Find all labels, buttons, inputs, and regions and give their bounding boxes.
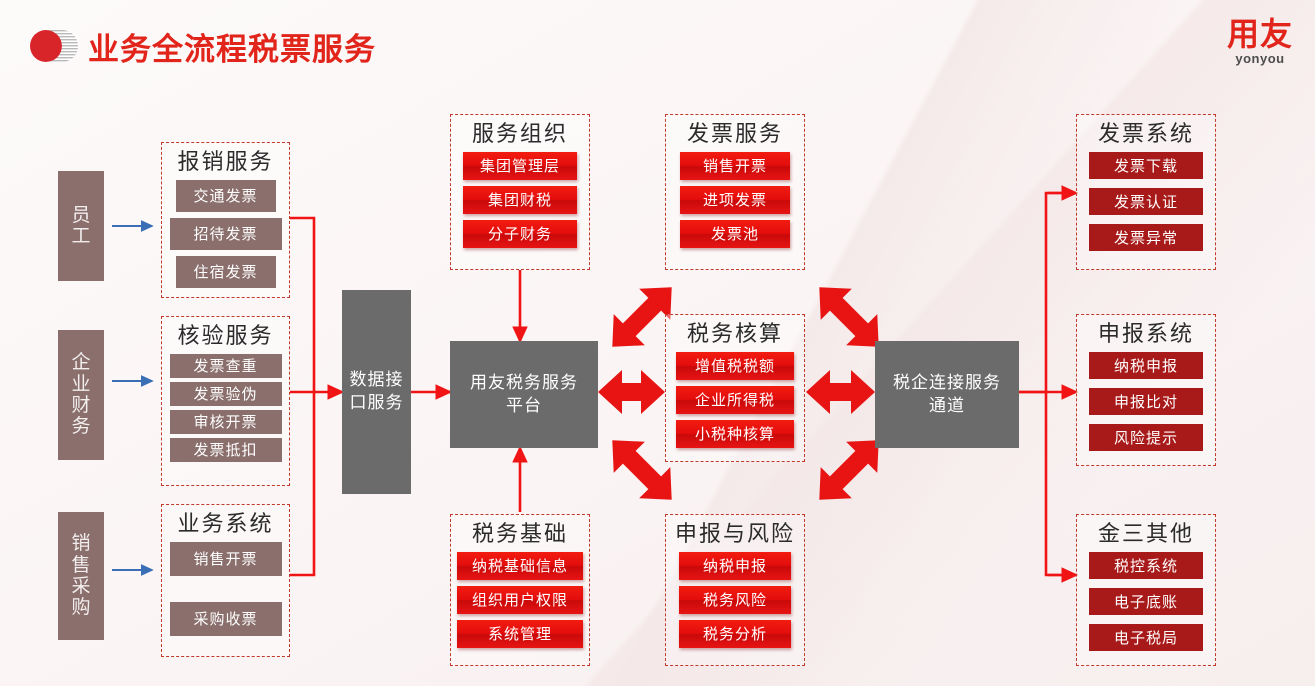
chip-invoice-download[interactable]: 发票下载 xyxy=(1089,152,1203,179)
tax-enterprise-connection-channel-block[interactable]: 税企连接服务通道 xyxy=(875,341,1019,448)
group-reimbursement-service: 报销服务 交通发票 招待发票 住宿发票 xyxy=(161,142,290,298)
actor-employee-label: 员工 xyxy=(72,205,91,248)
chip-vat-amount[interactable]: 增值税税额 xyxy=(676,352,794,380)
chip-invoice-duplicate-check[interactable]: 发票查重 xyxy=(170,354,282,378)
chip-purchase-receipt[interactable]: 采购收票 xyxy=(170,602,282,636)
chip-group-management[interactable]: 集团管理层 xyxy=(463,152,577,180)
page-title: 业务全流程税票服务 xyxy=(88,24,376,69)
chip-minor-tax-accounting[interactable]: 小税种核算 xyxy=(676,420,794,448)
group-invoice-service: 发票服务 销售开票 进项发票 发票池 xyxy=(665,114,805,270)
chip-system-management[interactable]: 系统管理 xyxy=(457,620,583,648)
chip-tax-risk[interactable]: 税务风险 xyxy=(679,586,791,614)
group-title: 税务核算 xyxy=(666,320,804,348)
group-title: 报销服务 xyxy=(162,148,289,176)
chip-invoice-authenticity[interactable]: 发票验伪 xyxy=(170,382,282,406)
chip-tax-declaration[interactable]: 纳税申报 xyxy=(1089,352,1203,379)
tax-service-platform-label: 用友税务服务平台 xyxy=(465,372,584,418)
chip-sales-invoicing[interactable]: 销售开票 xyxy=(680,152,790,180)
chip-tax-control-system[interactable]: 税控系统 xyxy=(1089,552,1203,579)
chip-sales-invoicing[interactable]: 销售开票 xyxy=(170,542,282,576)
chip-audit-invoicing[interactable]: 审核开票 xyxy=(170,410,282,434)
group-title: 税务基础 xyxy=(451,520,589,548)
chip-group-finance-tax[interactable]: 集团财税 xyxy=(463,186,577,214)
group-title: 发票服务 xyxy=(666,120,804,148)
group-service-organization: 服务组织 集团管理层 集团财税 分子财务 xyxy=(450,114,590,270)
chip-corporate-income-tax[interactable]: 企业所得税 xyxy=(676,386,794,414)
right-bracket-from-connector xyxy=(1019,193,1070,575)
group-verification-service: 核验服务 发票查重 发票验伪 审核开票 发票抵扣 xyxy=(161,316,290,486)
bullet-icon xyxy=(24,30,78,62)
data-interface-service-label: 数据接口服务 xyxy=(342,369,411,415)
group-title: 服务组织 xyxy=(451,120,589,148)
yonyou-logo: 用友 yonyou xyxy=(1227,18,1293,66)
chip-transport-invoice[interactable]: 交通发票 xyxy=(176,180,276,212)
group-invoice-system: 发票系统 发票下载 发票认证 发票异常 xyxy=(1076,114,1216,270)
logo-cn-text: 用友 xyxy=(1227,18,1293,50)
diagram-canvas: 业务全流程税票服务 用友 yonyou xyxy=(0,0,1315,686)
actor-enterprise-finance-label: 企业财务 xyxy=(72,352,91,437)
group-title: 业务系统 xyxy=(162,510,289,538)
actor-employee[interactable]: 员工 xyxy=(58,171,104,281)
chip-subsidiary-finance[interactable]: 分子财务 xyxy=(463,220,577,248)
logo-en-text: yonyou xyxy=(1227,51,1293,66)
tax-service-platform-block[interactable]: 用友税务服务平台 xyxy=(450,341,598,448)
group-declaration-system: 申报系统 纳税申报 申报比对 风险提示 xyxy=(1076,314,1216,466)
chip-input-invoice[interactable]: 进项发票 xyxy=(680,186,790,214)
chip-risk-alert[interactable]: 风险提示 xyxy=(1089,424,1203,451)
data-interface-service-block[interactable]: 数据接口服务 xyxy=(342,290,411,494)
group-tax-foundation: 税务基础 纳税基础信息 组织用户权限 系统管理 xyxy=(450,514,590,666)
group-declaration-and-risk: 申报与风险 纳税申报 税务风险 税务分析 xyxy=(665,514,805,666)
chip-invoice-verification[interactable]: 发票认证 xyxy=(1089,188,1203,215)
chip-electronic-tax-bureau[interactable]: 电子税局 xyxy=(1089,624,1203,651)
group-golden-tax-other: 金三其他 税控系统 电子底账 电子税局 xyxy=(1076,514,1216,666)
group-title: 申报系统 xyxy=(1077,320,1215,348)
double-arrow-platform-accounting xyxy=(598,370,665,414)
group-title: 核验服务 xyxy=(162,322,289,350)
group-title: 申报与风险 xyxy=(666,520,804,548)
chip-tax-basic-info[interactable]: 纳税基础信息 xyxy=(457,552,583,580)
chip-accommodation-invoice[interactable]: 住宿发票 xyxy=(176,256,276,288)
chip-entertainment-invoice[interactable]: 招待发票 xyxy=(170,218,282,250)
chip-tax-analysis[interactable]: 税务分析 xyxy=(679,620,791,648)
left-bracket-to-data-interface xyxy=(290,218,314,575)
chip-invoice-pool[interactable]: 发票池 xyxy=(680,220,790,248)
chip-declaration-comparison[interactable]: 申报比对 xyxy=(1089,388,1203,415)
tax-enterprise-connection-channel-label: 税企连接服务通道 xyxy=(888,372,1007,418)
group-title: 金三其他 xyxy=(1077,520,1215,548)
group-title: 发票系统 xyxy=(1077,120,1215,148)
chip-electronic-ledger[interactable]: 电子底账 xyxy=(1089,588,1203,615)
chip-invoice-exception[interactable]: 发票异常 xyxy=(1089,224,1203,251)
group-tax-accounting: 税务核算 增值税税额 企业所得税 小税种核算 xyxy=(665,314,805,462)
group-business-system: 业务系统 销售开票 采购收票 xyxy=(161,504,290,657)
actor-sales-procurement-label: 销售采购 xyxy=(72,533,91,618)
chip-tax-declaration[interactable]: 纳税申报 xyxy=(679,552,791,580)
actor-sales-procurement[interactable]: 销售采购 xyxy=(58,512,104,640)
double-arrow-accounting-connector xyxy=(806,370,875,414)
actor-enterprise-finance[interactable]: 企业财务 xyxy=(58,330,104,460)
chip-org-user-permission[interactable]: 组织用户权限 xyxy=(457,586,583,614)
chip-invoice-deduction[interactable]: 发票抵扣 xyxy=(170,438,282,462)
